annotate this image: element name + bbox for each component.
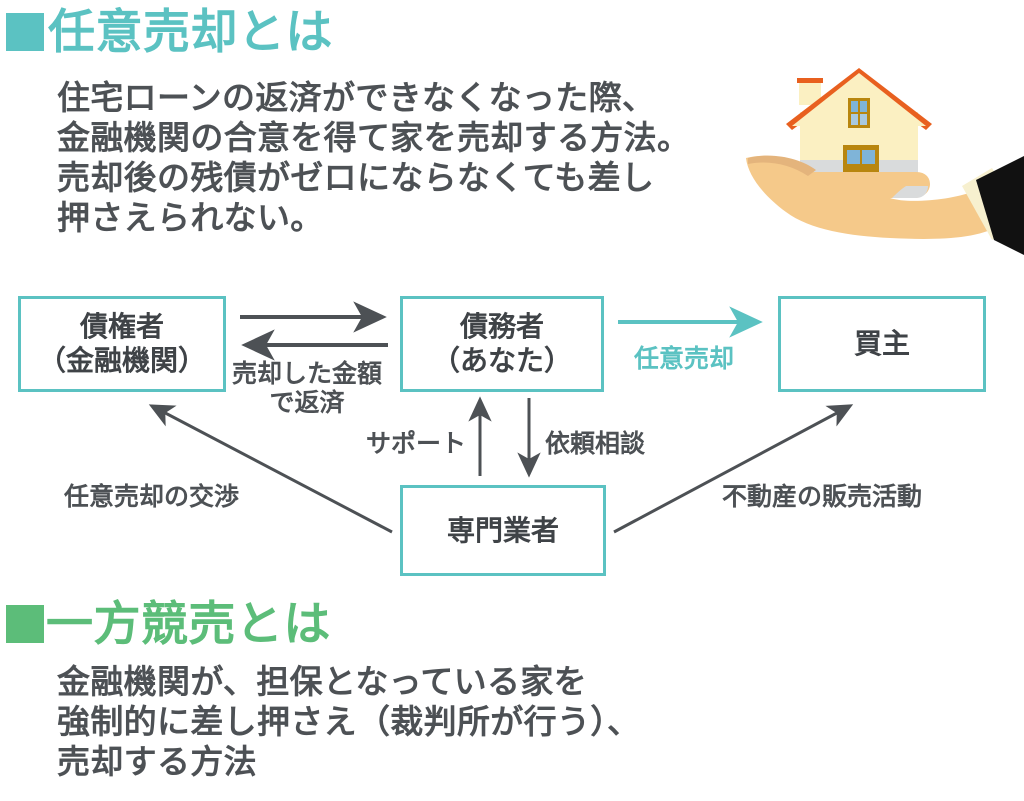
node-creditor[interactable]: 債権者 （金融機関） — [18, 296, 226, 392]
node-agent[interactable]: 専門業者 — [400, 485, 606, 576]
section-heading-keibai: 一方競売とは — [6, 600, 331, 647]
edge-label-ninbai-sale: 任意売却 — [634, 345, 734, 374]
section-body-keibai: 金融機関が、担保となっている家を 強制的に差し押さえ（裁判所が行う）、 売却する… — [57, 662, 640, 782]
node-buyer[interactable]: 買主 — [778, 296, 986, 392]
section-heading-keibai-label: 一方競売とは — [46, 600, 331, 647]
filled-square-icon — [6, 605, 44, 643]
node-debtor[interactable]: 債務者 （あなた） — [400, 296, 604, 392]
edge-label-consult: 依頼相談 — [545, 430, 645, 459]
arrow-agent-to-creditor-negotiate — [152, 406, 392, 532]
edge-label-support: サポート — [366, 430, 466, 459]
edge-label-repay: 売却した金額 で返済 — [232, 360, 382, 418]
infographic-page: 任意売却とは 住宅ローンの返済ができなくなった際、 金融機関の合意を得て家を売却… — [0, 0, 1024, 801]
arrow-agent-to-buyer-sales — [614, 406, 850, 532]
edge-label-negotiate: 任意売却の交渉 — [64, 483, 239, 512]
edge-label-sales-activity: 不動産の販売活動 — [722, 483, 922, 512]
